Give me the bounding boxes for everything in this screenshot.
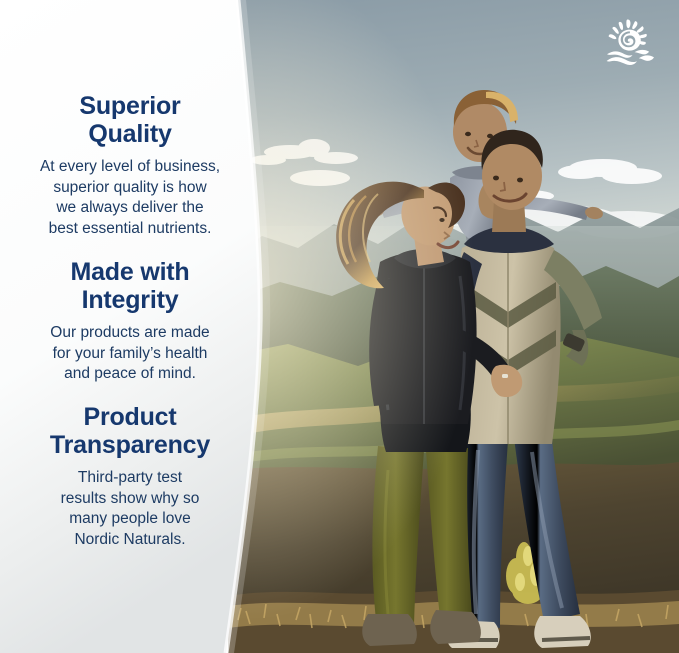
promo-banner: Superior Quality At every level of busin… (0, 0, 679, 653)
body-product-transparency: Third-party test results show why so man… (14, 468, 246, 550)
family-outdoor-photo (228, 0, 679, 653)
value-prop-made-with-integrity: Made with Integrity Our products are mad… (14, 258, 246, 385)
body-line: for your family’s health (14, 344, 246, 365)
sun-glow (228, 0, 679, 653)
heading-superior-quality: Superior Quality (14, 92, 246, 148)
heading-line-1: Product (83, 403, 176, 431)
body-line: results show why so (14, 489, 246, 510)
heading-product-transparency: Product Transparency (14, 403, 246, 459)
heading-line-2: Transparency (50, 431, 210, 459)
heading-made-with-integrity: Made with Integrity (14, 258, 246, 314)
body-superior-quality: At every level of business, superior qua… (14, 157, 246, 239)
nordic-naturals-logo (601, 18, 657, 68)
body-line: At every level of business, (14, 157, 246, 178)
body-line: Our products are made (14, 323, 246, 344)
body-line: best essential nutrients. (14, 219, 246, 240)
value-prop-superior-quality: Superior Quality At every level of busin… (14, 92, 246, 239)
body-line: many people love (14, 509, 246, 530)
value-props-column: Superior Quality At every level of busin… (0, 0, 262, 653)
sun-wave-logo-icon (601, 18, 657, 68)
value-prop-product-transparency: Product Transparency Third-party test re… (14, 403, 246, 550)
body-line: and peace of mind. (14, 364, 246, 385)
body-line: Third-party test (14, 468, 246, 489)
body-line: superior quality is how (14, 178, 246, 199)
heading-line-2: Quality (88, 120, 171, 148)
heading-line-2: Integrity (82, 286, 179, 314)
body-line: Nordic Naturals. (14, 530, 246, 551)
body-made-with-integrity: Our products are made for your family’s … (14, 323, 246, 385)
body-line: we always deliver the (14, 198, 246, 219)
heading-line-1: Superior (79, 92, 180, 120)
heading-line-1: Made with (70, 258, 189, 286)
